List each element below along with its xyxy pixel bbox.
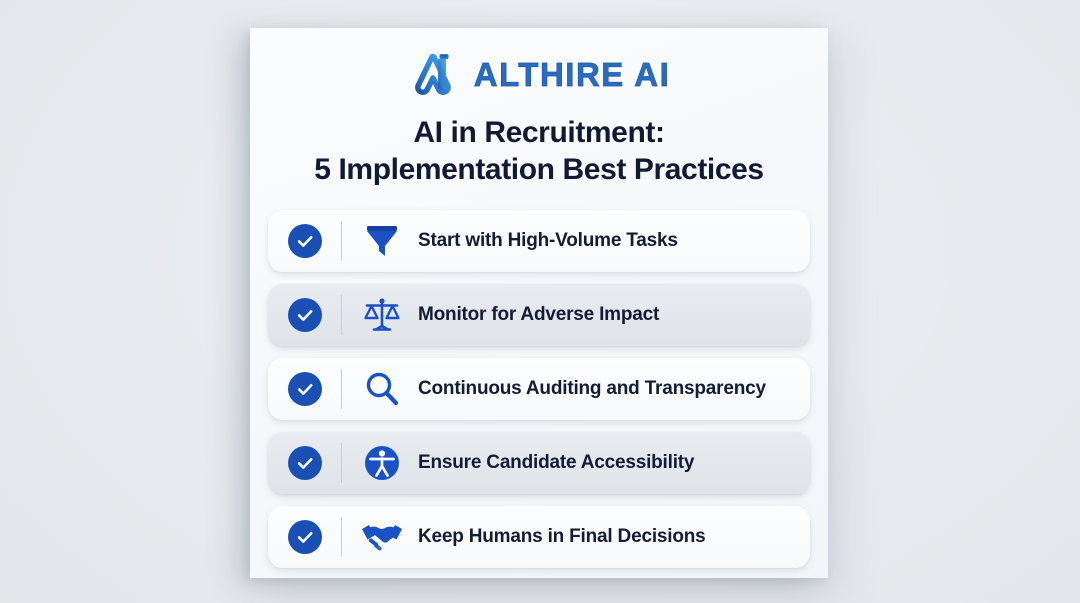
accessibility-icon <box>360 441 404 485</box>
page-title-line-1: AI in Recruitment: <box>250 116 828 151</box>
row-divider <box>341 369 342 409</box>
list-item[interactable]: Ensure Candidate Accessibility <box>268 432 810 494</box>
row-divider <box>341 517 342 557</box>
check-circle-icon <box>288 224 322 258</box>
magnifying-glass-icon <box>360 367 404 411</box>
funnel-icon <box>360 219 404 263</box>
list-item[interactable]: Monitor for Adverse Impact <box>268 284 810 346</box>
row-divider <box>341 295 342 335</box>
page-title: AI in Recruitment: 5 Implementation Best… <box>250 116 828 188</box>
check-circle-icon <box>288 520 322 554</box>
brand-logo: ALTHIRE AI <box>250 46 828 102</box>
best-practices-list: Start with High-Volume Tasks <box>268 210 810 568</box>
list-item-label: Continuous Auditing and Transparency <box>418 378 766 400</box>
list-item-label: Keep Humans in Final Decisions <box>418 526 706 548</box>
list-item-label: Ensure Candidate Accessibility <box>418 452 694 474</box>
list-item-label: Start with High-Volume Tasks <box>418 230 678 252</box>
althire-logo-mark-icon <box>408 50 462 98</box>
page-title-line-2: 5 Implementation Best Practices <box>250 153 828 188</box>
scales-balance-icon <box>360 293 404 337</box>
row-divider <box>341 221 342 261</box>
check-circle-icon <box>288 372 322 406</box>
handshake-icon <box>360 515 404 559</box>
check-circle-icon <box>288 298 322 332</box>
list-item-label: Monitor for Adverse Impact <box>418 304 659 326</box>
list-item[interactable]: Start with High-Volume Tasks <box>268 210 810 272</box>
check-circle-icon <box>288 446 322 480</box>
list-item[interactable]: Continuous Auditing and Transparency <box>268 358 810 420</box>
brand-wordmark: ALTHIRE AI <box>474 58 670 91</box>
list-item[interactable]: Keep Humans in Final Decisions <box>268 506 810 568</box>
infographic-poster: ALTHIRE AI AI in Recruitment: 5 Implemen… <box>250 28 828 578</box>
row-divider <box>341 443 342 483</box>
